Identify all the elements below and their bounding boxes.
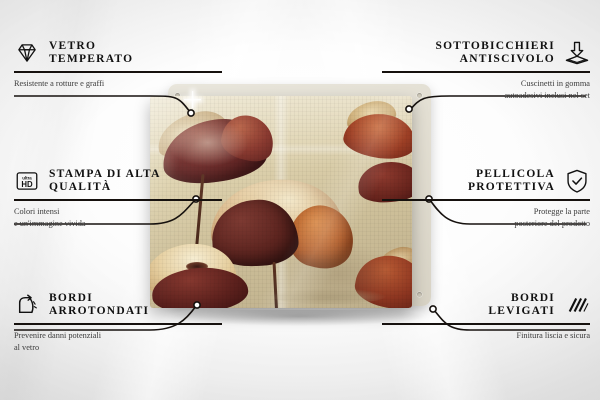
- petal: [152, 106, 233, 163]
- diagonal-lines-icon: [564, 292, 590, 318]
- feature-subtitle: Resistente a rotture e graffi: [14, 78, 222, 90]
- petal: [210, 198, 299, 268]
- petal: [150, 242, 237, 299]
- feature-divider: [382, 71, 590, 73]
- petal: [218, 111, 278, 165]
- ultra-hd-icon: ultra HD: [14, 168, 40, 194]
- infographic-canvas: VETRO TEMPERATO Resistente a rotture e g…: [0, 0, 600, 400]
- feature-subtitle-line: posteriore del prodotto: [382, 218, 590, 230]
- shield-check-icon: [564, 168, 590, 194]
- feature-subtitle: Prevenire danni potenziali al vetro: [14, 330, 222, 354]
- petal: [376, 243, 412, 274]
- feature-title-line: TEMPERATO: [49, 53, 133, 66]
- feature-divider: [14, 71, 222, 73]
- feature-divider: [382, 323, 590, 325]
- petal: [344, 98, 398, 132]
- feature-pellicola-protettiva: PELLICOLA PROTETTIVA Protegge la parte p…: [382, 168, 590, 230]
- feature-title-line: ANTISCIVOLO: [460, 53, 555, 66]
- flower-center: [186, 262, 208, 271]
- feature-title-line: LEVIGATI: [488, 305, 555, 318]
- feature-divider: [382, 199, 590, 201]
- feature-bordi-levigati: BORDI LEVIGATI Finitura liscia e sicura: [382, 292, 590, 342]
- feature-subtitle-line: Protegge la parte: [382, 206, 590, 218]
- feature-title-line: SOTTOBICCHIERI: [435, 40, 555, 53]
- feature-title-line: ARROTONDATI: [49, 305, 149, 318]
- feature-stampa-alta-qualita: ultra HD STAMPA DI ALTA QUALITÀ Colori i…: [14, 168, 222, 230]
- feature-subtitle: Cuscinetti in gomma autoadesivi inclusi …: [382, 78, 590, 102]
- feature-title-line: VETRO: [49, 40, 133, 53]
- feature-bordi-arrotondati: BORDI ARROTONDATI Prevenire danni potenz…: [14, 292, 222, 354]
- feature-subtitle-line: autoadesivi inclusi nel set: [382, 90, 590, 102]
- flower-stem: [273, 262, 279, 308]
- feature-title-line: BORDI: [511, 292, 555, 305]
- diamond-icon: [14, 40, 40, 66]
- feature-subtitle: Colori intensi e un'immagine vivida: [14, 206, 222, 230]
- feature-vetro-temperato: VETRO TEMPERATO Resistente a rotture e g…: [14, 40, 222, 90]
- feature-title-line: PROTETTIVA: [468, 181, 555, 194]
- feature-subtitle-line: Prevenire danni potenziali: [14, 330, 222, 342]
- feature-subtitle-line: Colori intensi: [14, 206, 222, 218]
- feature-title-line: BORDI: [49, 292, 149, 305]
- feature-title-line: STAMPA DI ALTA: [49, 168, 161, 181]
- feature-subtitle-line: e un'immagine vivida: [14, 218, 222, 230]
- feature-sottobicchieri-antiscivolo: SOTTOBICCHIERI ANTISCIVOLO Cuscinetti in…: [382, 40, 590, 102]
- feature-divider: [14, 323, 222, 325]
- petal: [341, 109, 412, 163]
- feature-subtitle: Protegge la parte posteriore del prodott…: [382, 206, 590, 230]
- svg-text:HD: HD: [21, 180, 33, 189]
- rounded-corner-icon: [14, 292, 40, 318]
- petal: [283, 199, 360, 275]
- feature-subtitle-line: Cuscinetti in gomma: [382, 78, 590, 90]
- feature-title-line: PELLICOLA: [476, 168, 555, 181]
- feature-title-line: QUALITÀ: [49, 181, 161, 194]
- feature-divider: [14, 199, 222, 201]
- feature-subtitle: Finitura liscia e sicura: [382, 330, 590, 342]
- petal: [208, 175, 345, 258]
- pad-down-arrow-icon: [564, 40, 590, 66]
- painted-ground: [271, 288, 386, 304]
- feature-subtitle-line: al vetro: [14, 342, 222, 354]
